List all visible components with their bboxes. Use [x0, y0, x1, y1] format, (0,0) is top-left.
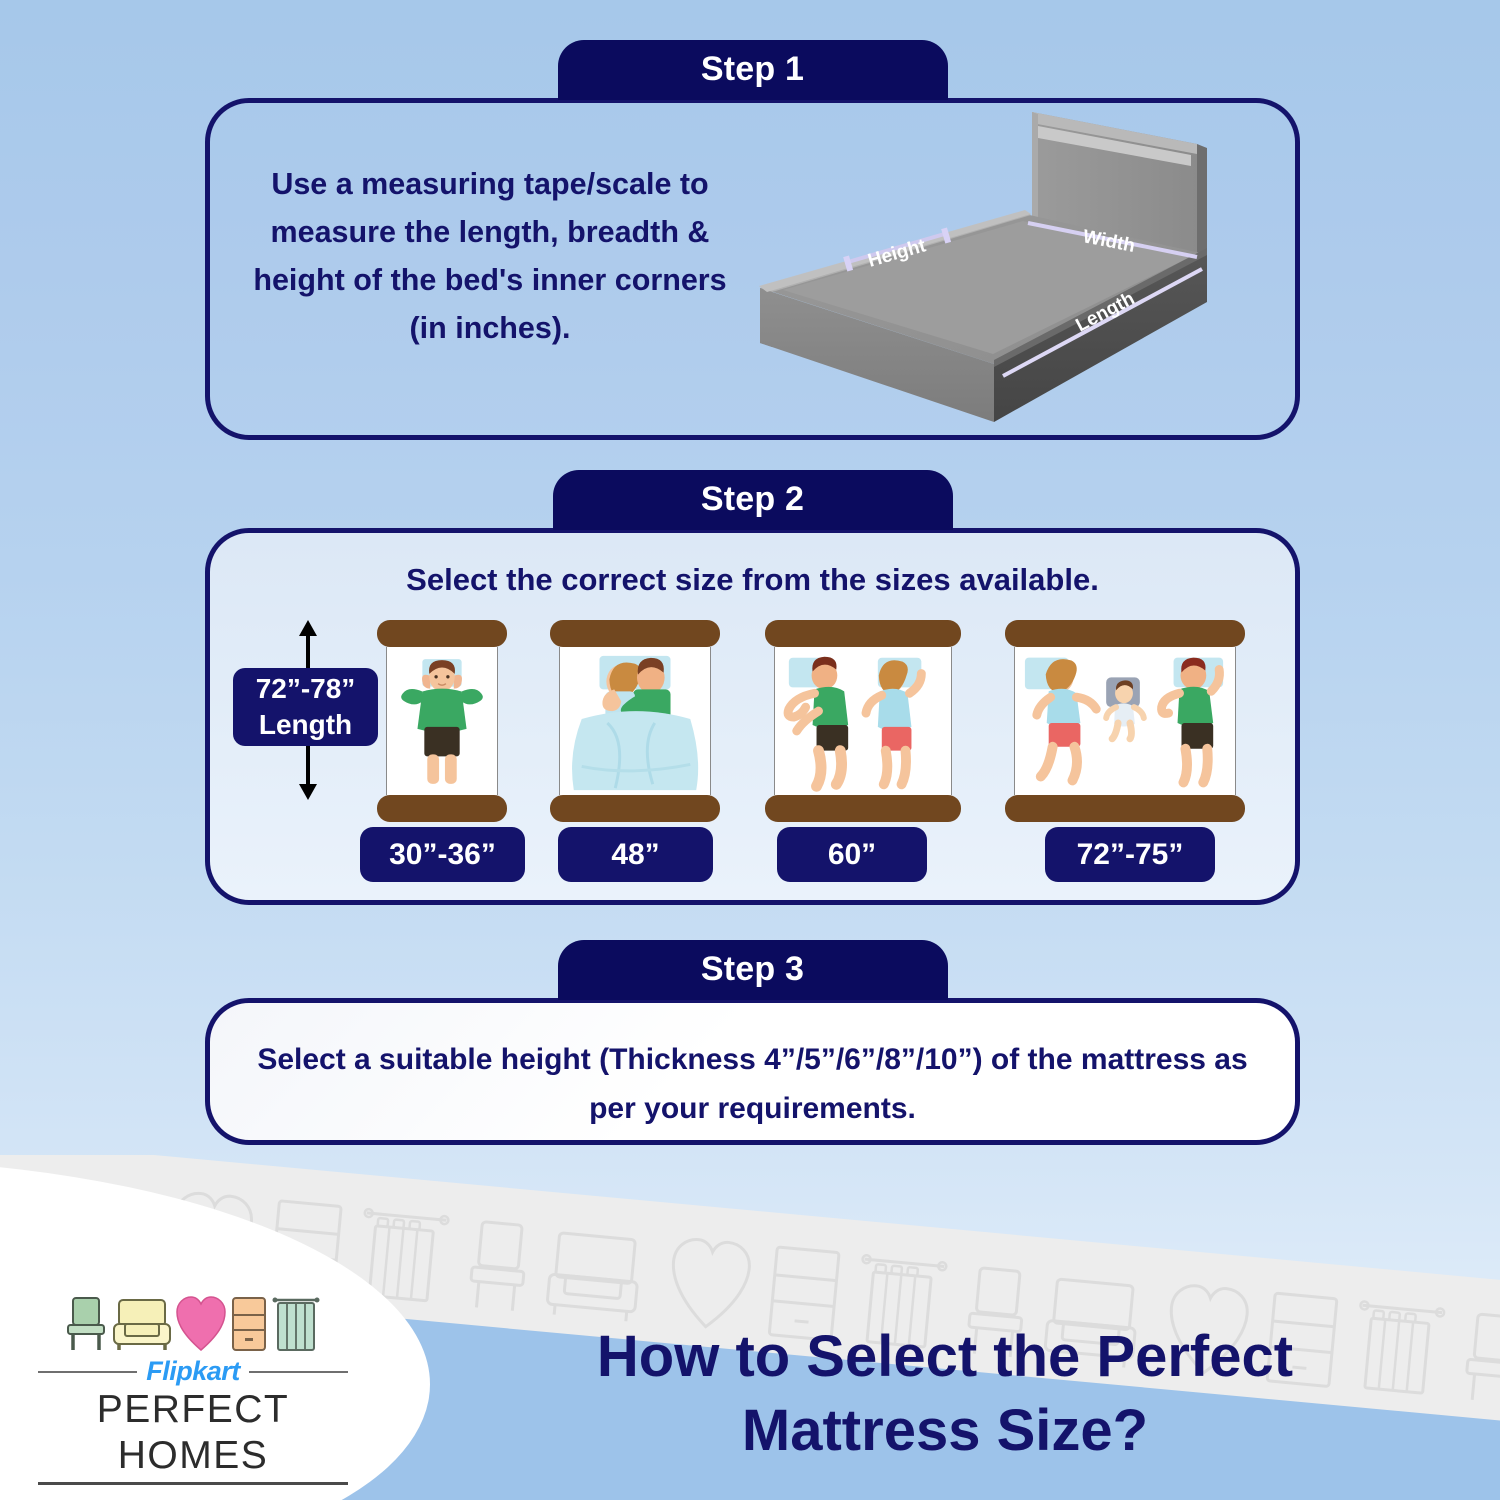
- bed-rail-bottom: [550, 795, 720, 822]
- size-badge-queen[interactable]: 60”: [777, 827, 927, 882]
- bed-rail-top: [1005, 620, 1245, 647]
- mattress-sheet: [386, 647, 498, 795]
- rule-left: [38, 1371, 137, 1373]
- step-3-body-text: Select a suitable height (Thickness 4”/5…: [255, 1035, 1250, 1133]
- brand-logo[interactable]: Flipkart PERFECT HOMES: [38, 1290, 348, 1485]
- bed-rail-bottom: [765, 795, 961, 822]
- curtain-icon: [272, 1296, 320, 1352]
- size-badge-small-double[interactable]: 48”: [558, 827, 713, 882]
- mattress-card-single[interactable]: [377, 620, 507, 822]
- step-2-tab: Step 2: [553, 470, 953, 530]
- size-badge-king[interactable]: 72”-75”: [1045, 827, 1215, 882]
- bed-rail-bottom: [1005, 795, 1245, 822]
- mattress-sheet: [774, 647, 952, 795]
- step-2-heading: Select the correct size from the sizes a…: [205, 562, 1300, 598]
- heart-icon: [176, 1296, 226, 1352]
- mattress-card-queen[interactable]: [765, 620, 961, 822]
- brand-underline: [38, 1482, 348, 1485]
- mattress-sheet: [1014, 647, 1236, 795]
- brand-name: PERFECT HOMES: [38, 1387, 348, 1479]
- step-2-block: Step 2 Select the correct size from the …: [205, 470, 1300, 905]
- step-3-block: Step 3 Select a suitable height (Thickne…: [205, 940, 1300, 1145]
- mattress-sheet: [559, 647, 711, 795]
- step-1-tab: Step 1: [558, 40, 948, 100]
- brand-flipkart-text: Flipkart: [146, 1356, 240, 1387]
- size-badge-single[interactable]: 30”-36”: [360, 827, 525, 882]
- mattress-card-king[interactable]: [1005, 620, 1245, 822]
- brand-logo-icons: [38, 1290, 348, 1352]
- mattress-card-small-double[interactable]: [550, 620, 720, 822]
- bed-rail-top: [377, 620, 507, 647]
- bed-rail-bottom: [377, 795, 507, 822]
- sofa-icon: [113, 1296, 171, 1352]
- page-title: How to Select the Perfect Mattress Size?: [430, 1320, 1460, 1468]
- single-sleeper-icon: [387, 647, 497, 795]
- step-1-card: [205, 98, 1300, 440]
- rule-right: [249, 1371, 348, 1373]
- length-badge: 72”-78” Length: [233, 668, 378, 746]
- length-badge-value: 72”-78”: [233, 671, 378, 707]
- couple-under-blanket-icon: [560, 647, 710, 795]
- infographic-page: Step 1 Use a measuring tape/scale to mea…: [0, 0, 1500, 1500]
- couple-two-pillows-icon: [775, 647, 951, 795]
- bed-rail-top: [765, 620, 961, 647]
- brand-flipkart-row: Flipkart: [38, 1356, 348, 1387]
- page-title-line-2: Mattress Size?: [430, 1394, 1460, 1468]
- page-title-line-1: How to Select the Perfect: [430, 1320, 1460, 1394]
- length-badge-caption: Length: [233, 707, 378, 743]
- bed-rail-top: [550, 620, 720, 647]
- couple-with-baby-icon: [1015, 647, 1235, 795]
- step-3-tab: Step 3: [558, 940, 948, 1000]
- chair-icon: [66, 1296, 108, 1352]
- step-1-block: Step 1 Use a measuring tape/scale to mea…: [205, 40, 1300, 440]
- dresser-icon: [231, 1296, 267, 1352]
